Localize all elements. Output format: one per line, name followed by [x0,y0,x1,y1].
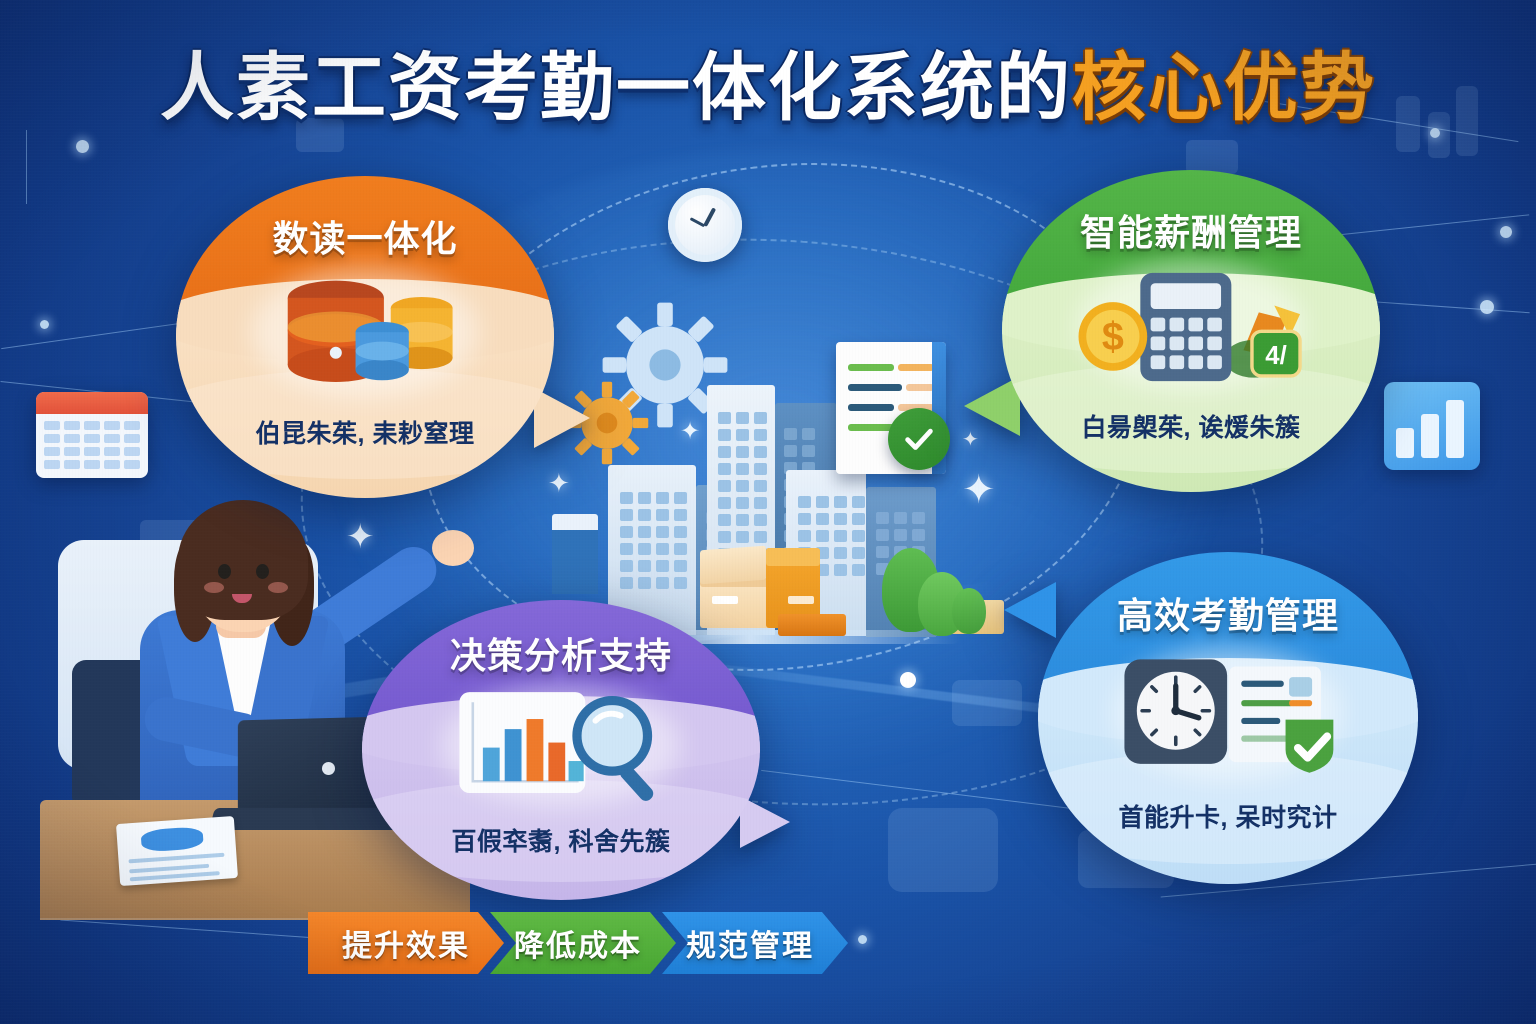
texture-overlay [0,0,1536,1024]
infographic-canvas: ✦ ✦ ✦ ✦ ✦ ✦ [0,0,1536,1024]
